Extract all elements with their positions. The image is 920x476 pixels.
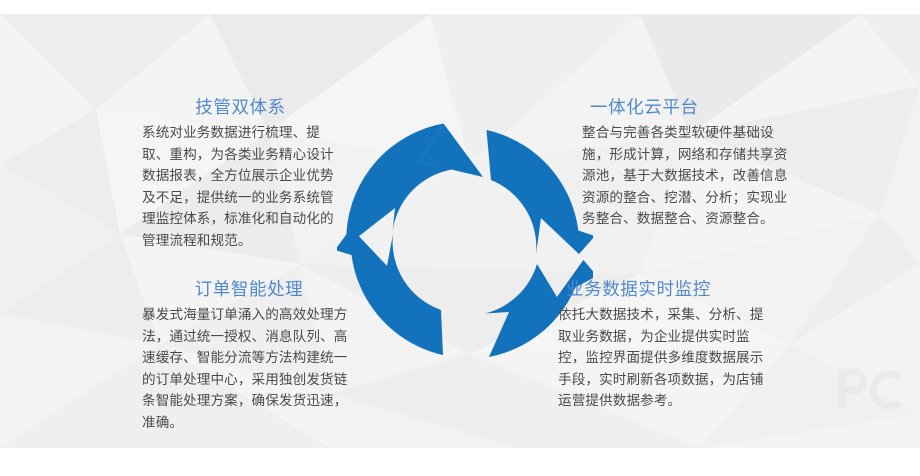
- block-heading-top-right: 一体化云平台: [582, 97, 792, 119]
- pc-watermark-logo: [834, 366, 908, 410]
- block-heading-top-left: 技管双体系: [142, 97, 347, 119]
- text-block-bottom-left: 订单智能处理 暴发式海量订单涌入的高效处理方法，通过统一授权、消息队列、高速缓存…: [142, 279, 350, 434]
- text-block-top-right: 一体化云平台 整合与完善各类型软硬件基础设施，形成计算，网络和存储共享资源池，基…: [582, 97, 792, 231]
- block-body-top-right: 整合与完善各类型软硬件基础设施，形成计算，网络和存储共享资源池，基于大数据技术，…: [582, 123, 792, 231]
- text-block-top-left: 技管双体系 系统对业务数据进行梳理、提取、重构，为各类业务精心设计数据报表，全方…: [142, 97, 347, 252]
- block-heading-bottom-right: 业务数据实时监控: [558, 279, 774, 301]
- text-block-bottom-right: 业务数据实时监控 依托大数据技术，采集、分析、提取业务数据，为企业提供实时监控，…: [558, 279, 774, 413]
- content-band: 技管双体系 系统对业务数据进行梳理、提取、重构，为各类业务精心设计数据报表，全方…: [0, 14, 920, 448]
- block-heading-bottom-left: 订单智能处理: [142, 279, 350, 301]
- circular-cycle-arrows: [337, 64, 593, 420]
- block-body-bottom-right: 依托大数据技术，采集、分析、提取业务数据，为企业提供实时监控，监控界面提供多维度…: [558, 305, 774, 413]
- infographic-slide: 技管双体系 系统对业务数据进行梳理、提取、重构，为各类业务精心设计数据报表，全方…: [0, 0, 920, 476]
- block-body-top-left: 系统对业务数据进行梳理、提取、重构，为各类业务精心设计数据报表，全方位展示企业优…: [142, 123, 347, 252]
- block-body-bottom-left: 暴发式海量订单涌入的高效处理方法，通过统一授权、消息队列、高速缓存、智能分流等方…: [142, 305, 350, 434]
